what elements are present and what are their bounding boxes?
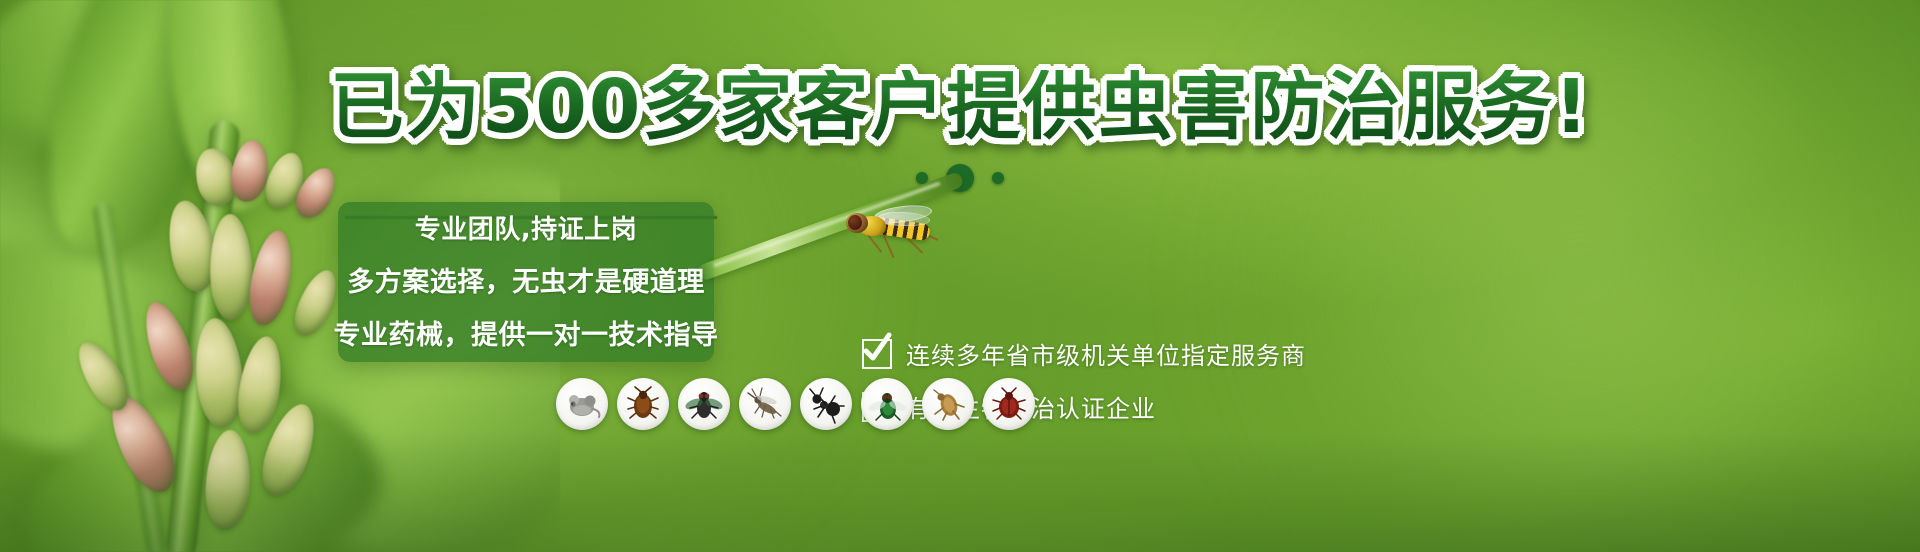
selling-point-line-2: 多方案选择，无虫才是硬道理: [347, 260, 705, 299]
selling-point-line-3: 专业药械，提供一对一技术指导: [334, 313, 719, 352]
checkbox-checked-icon: [862, 339, 892, 369]
page-title: 已为500多家客户提供虫害防治服务!: [0, 70, 1920, 144]
ant-icon: [800, 378, 852, 430]
flea-icon: [922, 378, 974, 430]
list-item-label: 连续多年省市级机关单位指定服务商: [906, 336, 1306, 371]
bedbug-icon: [983, 378, 1035, 430]
list-item: 连续多年省市级机关单位指定服务商: [862, 336, 1306, 371]
selling-point-line-1: 专业团队,持证上岗: [415, 209, 637, 246]
selling-points-box: 专业团队,持证上岗 多方案选择，无虫才是硬道理 专业药械，提供一对一技术指导: [338, 202, 714, 362]
mosquito-icon: [739, 378, 791, 430]
housefly-icon: [678, 378, 730, 430]
hoverfly-icon: [846, 200, 956, 256]
greenfly-icon: [861, 378, 913, 430]
background-bottom-shade: [0, 432, 1920, 552]
pest-icon-row: [556, 378, 1035, 430]
dot-small-right-icon: [992, 172, 1004, 184]
cockroach-icon: [617, 378, 669, 430]
mouse-icon: [556, 378, 608, 430]
pest-control-banner: 已为500多家客户提供虫害防治服务! 专业团队,持证上岗 多方案选择，无虫才是硬…: [0, 0, 1920, 552]
